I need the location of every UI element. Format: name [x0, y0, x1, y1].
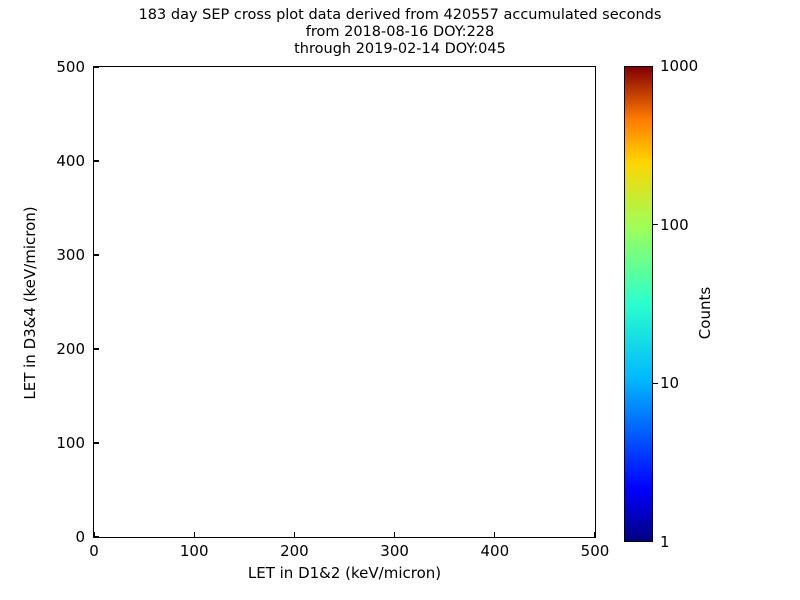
title-line-1: 183 day SEP cross plot data derived from…: [0, 7, 800, 24]
figure-canvas: 183 day SEP cross plot data derived from…: [0, 0, 800, 600]
y-tick-mark: [94, 66, 99, 67]
colorbar-label: Counts: [696, 203, 714, 423]
x-tick-label: 300: [380, 542, 409, 560]
colorbar-tick-label: 1000: [660, 57, 698, 75]
x-tick-mark: [394, 532, 395, 537]
title-line-2: from 2018-08-16 DOY:228: [0, 24, 800, 41]
colorbar-tick-mark: [653, 383, 658, 384]
colorbar-tick-label: 10: [660, 374, 679, 392]
y-axis-label-wrapper: LET in D3&4 (keV/micron): [0, 0, 40, 600]
x-tick-mark: [194, 532, 195, 537]
x-tick-mark: [294, 532, 295, 537]
plot-title: 183 day SEP cross plot data derived from…: [0, 7, 800, 58]
title-line-3: through 2019-02-14 DOY:045: [0, 41, 800, 58]
y-tick-mark: [94, 536, 99, 537]
x-tick-label: 500: [581, 542, 610, 560]
y-tick-mark: [94, 160, 99, 161]
x-tick-label: 0: [89, 542, 99, 560]
x-tick-mark: [594, 532, 595, 537]
x-axis-label: LET in D1&2 (keV/micron): [93, 564, 596, 582]
colorbar-tick-label: 1: [660, 533, 670, 551]
y-tick-mark: [94, 348, 99, 349]
axes-frame: [93, 66, 596, 538]
x-tick-label: 200: [280, 542, 309, 560]
colorbar-gradient: [625, 67, 652, 541]
x-tick-label: 100: [180, 542, 209, 560]
y-tick-mark: [94, 442, 99, 443]
colorbar-tick-mark: [653, 224, 658, 225]
x-tick-label: 400: [480, 542, 509, 560]
x-tick-mark: [494, 532, 495, 537]
colorbar-tick-label: 100: [660, 216, 689, 234]
colorbar: [624, 66, 653, 542]
y-axis-label: LET in D3&4 (keV/micron): [21, 163, 39, 443]
y-tick-mark: [94, 254, 99, 255]
